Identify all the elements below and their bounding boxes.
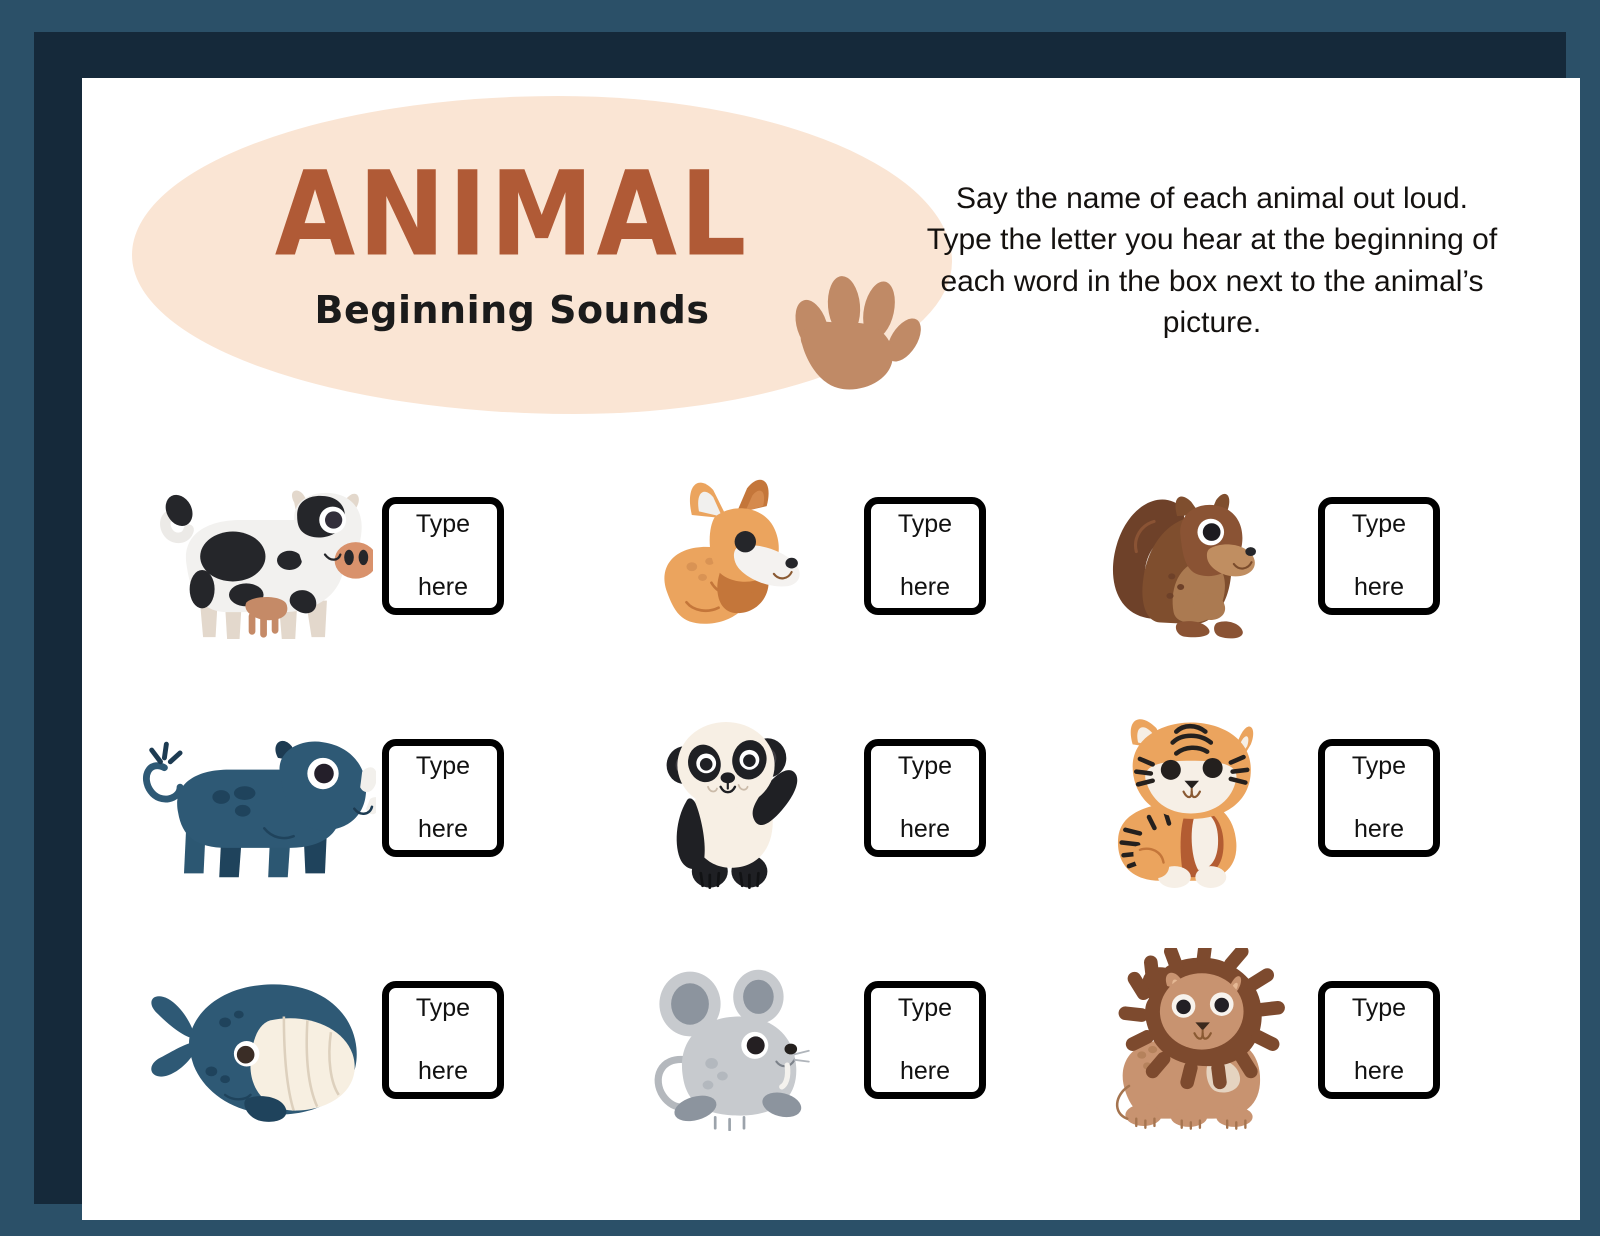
- animal-grid: Typehere: [82, 430, 1580, 1190]
- answer-box-fox[interactable]: Typehere: [864, 497, 986, 615]
- answer-box-placeholder: Typehere: [888, 751, 962, 845]
- worksheet-header: ANIMAL Beginning Sounds Say the name of …: [82, 78, 1580, 428]
- answer-box-panda[interactable]: Typehere: [864, 739, 986, 857]
- answer-box-placeholder: Typehere: [1342, 993, 1416, 1087]
- whale-icon: [128, 935, 378, 1145]
- grid-item-cow: Typehere: [128, 438, 548, 674]
- tiger-icon: [1064, 693, 1314, 903]
- grid-item-tiger: Typehere: [1064, 680, 1484, 916]
- answer-box-placeholder: Typehere: [406, 751, 480, 845]
- grid-item-panda: Typehere: [610, 680, 1030, 916]
- grid-item-lion: Typehere: [1064, 922, 1484, 1158]
- answer-box-whale[interactable]: Typehere: [382, 981, 504, 1099]
- grid-item-fox: Typehere: [610, 438, 1030, 674]
- squirrel-icon: [1064, 451, 1314, 661]
- grid-item-squirrel: Typehere: [1064, 438, 1484, 674]
- grid-item-mouse: Typehere: [610, 922, 1030, 1158]
- answer-box-placeholder: Typehere: [888, 509, 962, 603]
- grid-item-rhino: Typehere: [128, 680, 548, 916]
- instructions-text: Say the name of each animal out loud. Ty…: [922, 178, 1502, 344]
- answer-box-placeholder: Typehere: [1342, 751, 1416, 845]
- answer-box-squirrel[interactable]: Typehere: [1318, 497, 1440, 615]
- page-subtitle: Beginning Sounds: [232, 288, 792, 332]
- grid-item-whale: Typehere: [128, 922, 548, 1158]
- answer-box-rhino[interactable]: Typehere: [382, 739, 504, 857]
- answer-box-tiger[interactable]: Typehere: [1318, 739, 1440, 857]
- answer-box-placeholder: Typehere: [406, 993, 480, 1087]
- panda-icon: [610, 693, 860, 903]
- worksheet-outer-frame: ANIMAL Beginning Sounds Say the name of …: [34, 32, 1566, 1204]
- answer-box-mouse[interactable]: Typehere: [864, 981, 986, 1099]
- answer-box-placeholder: Typehere: [1342, 509, 1416, 603]
- answer-box-placeholder: Typehere: [406, 509, 480, 603]
- mouse-icon: [610, 935, 860, 1145]
- rhino-icon: [128, 693, 378, 903]
- answer-box-lion[interactable]: Typehere: [1318, 981, 1440, 1099]
- answer-box-cow[interactable]: Typehere: [382, 497, 504, 615]
- cow-icon: [128, 451, 378, 661]
- fox-icon: [610, 451, 860, 661]
- worksheet-page: ANIMAL Beginning Sounds Say the name of …: [82, 78, 1580, 1220]
- lion-icon: [1064, 935, 1314, 1145]
- paw-print-icon: [782, 248, 922, 398]
- page-title: ANIMAL: [232, 156, 792, 272]
- answer-box-placeholder: Typehere: [888, 993, 962, 1087]
